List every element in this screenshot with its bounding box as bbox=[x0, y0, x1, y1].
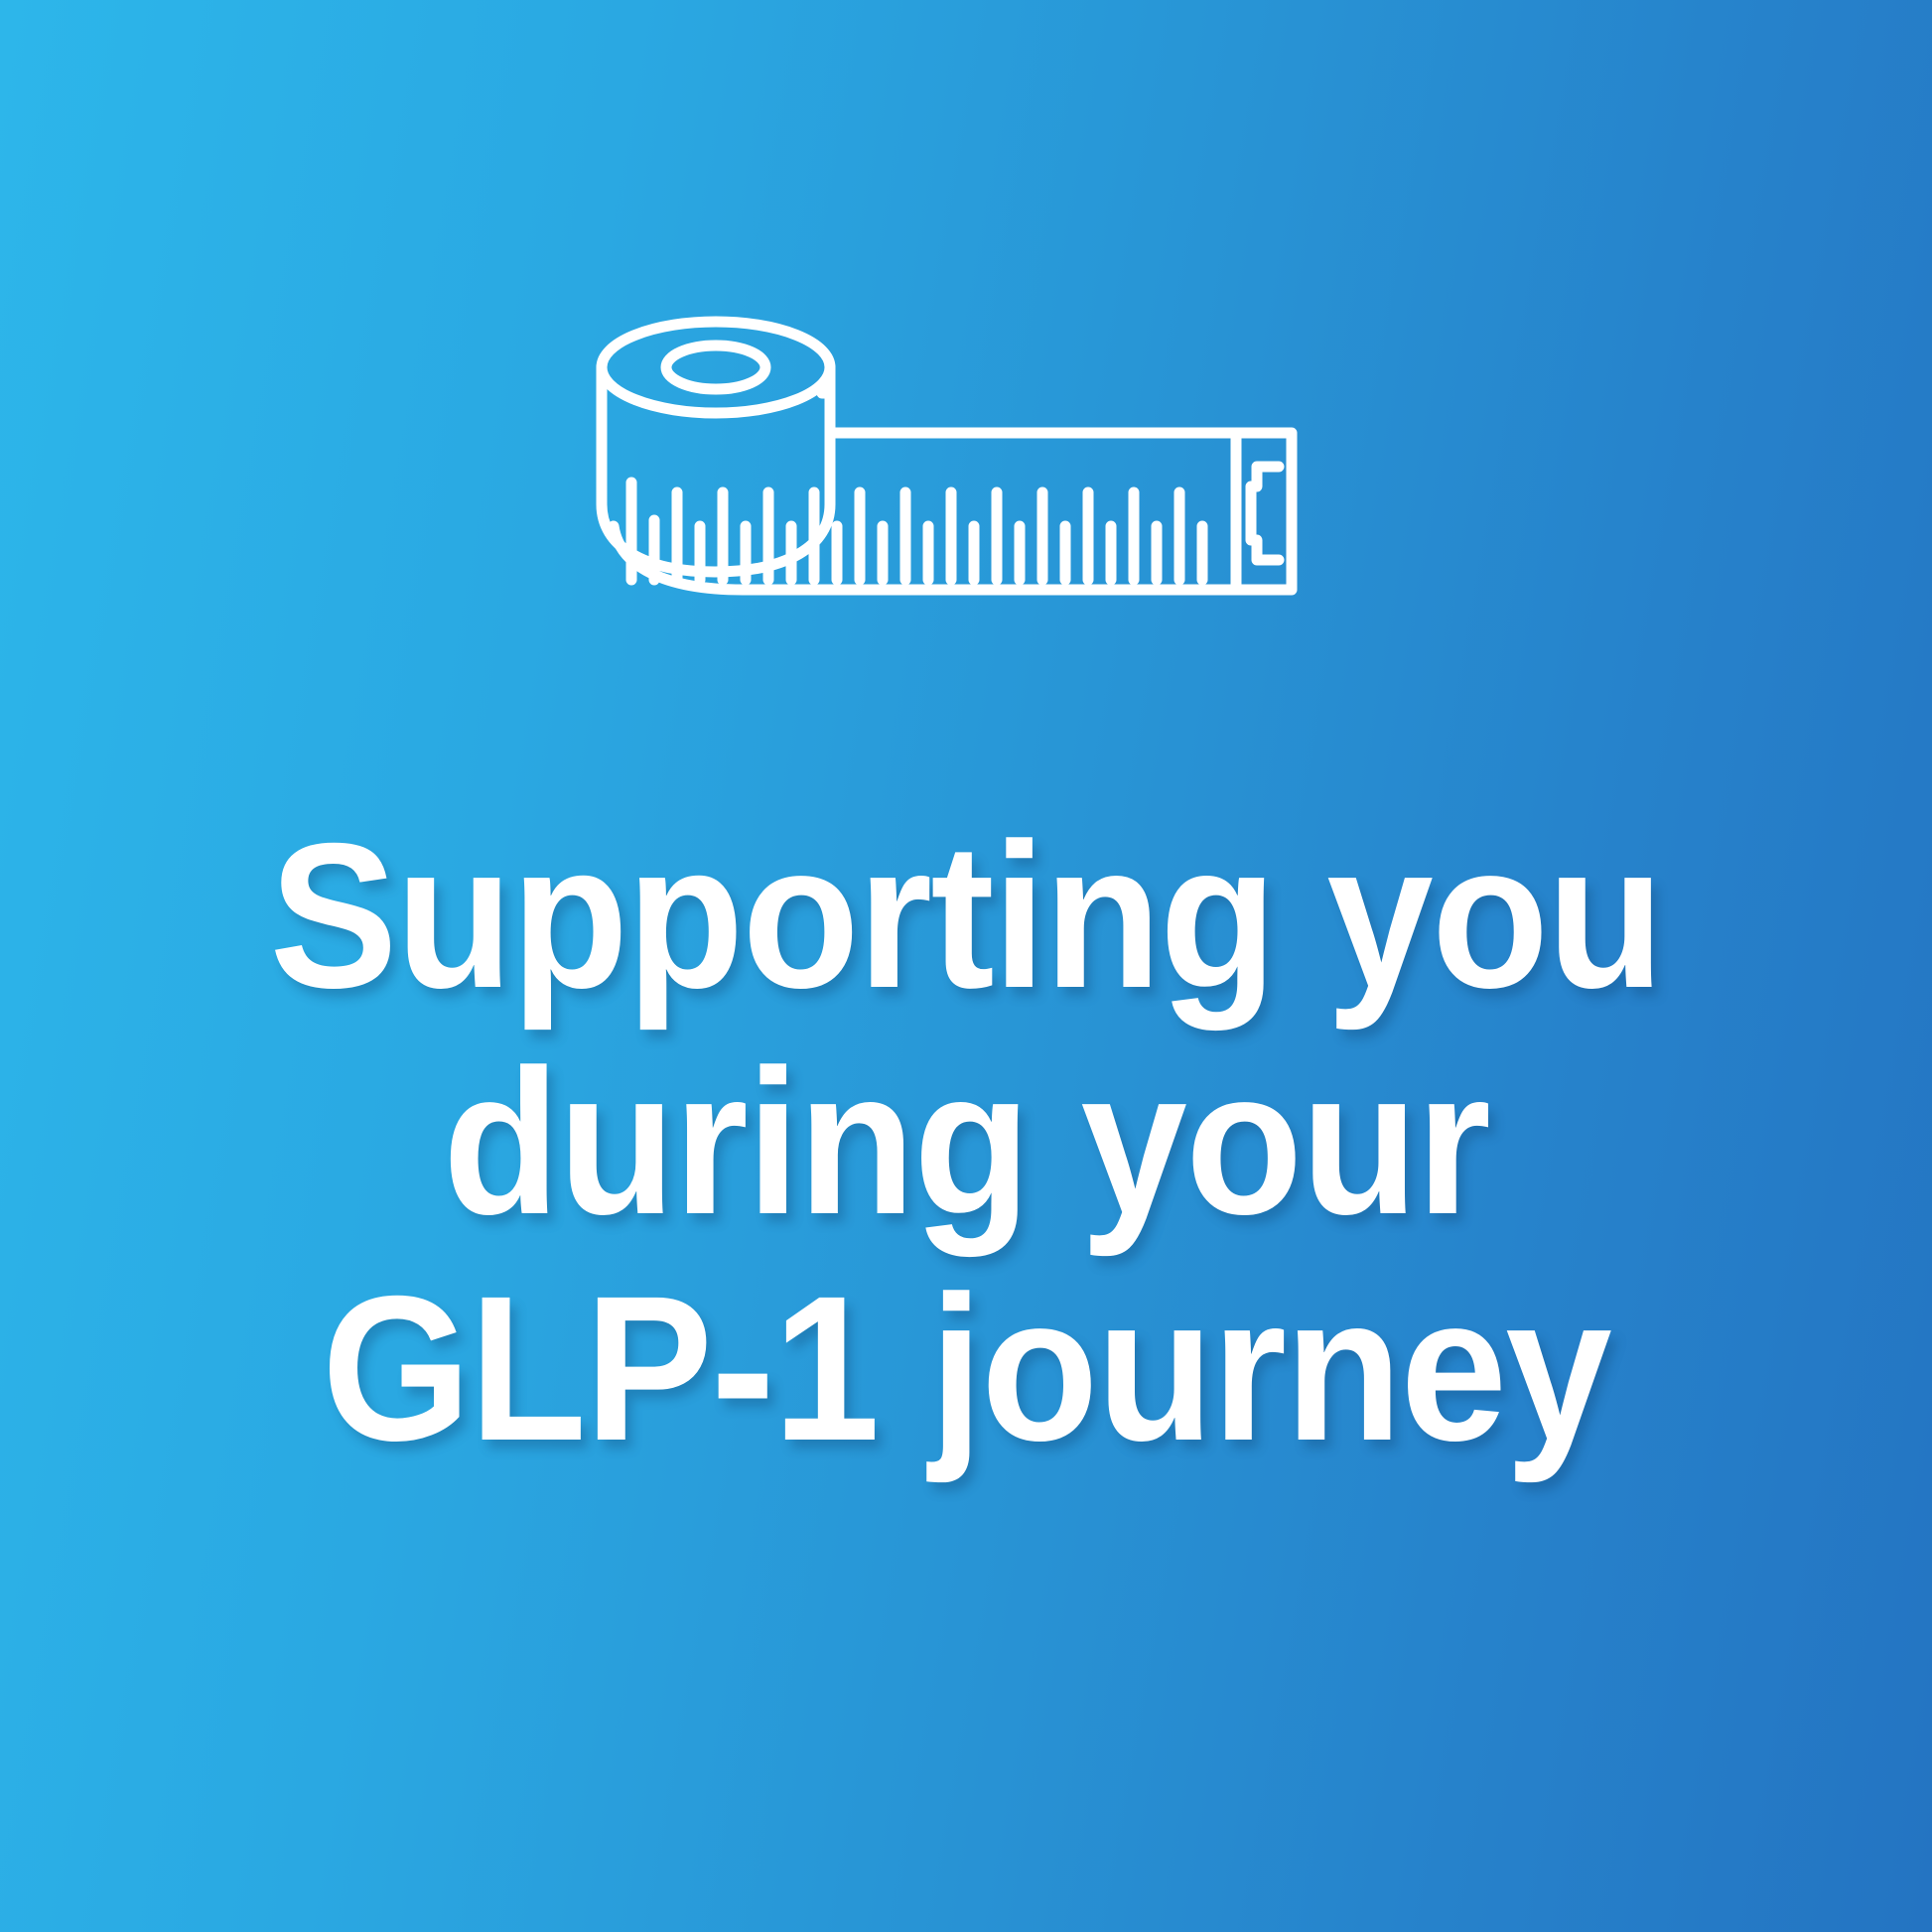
ruler-ticks bbox=[631, 483, 1202, 580]
tape-measure-icon bbox=[584, 316, 1348, 643]
headline-line-1: Supporting you bbox=[132, 804, 1800, 1031]
headline-line-3: GLP-1 journey bbox=[132, 1257, 1800, 1483]
poster-canvas: Supporting you during your GLP-1 journey bbox=[0, 0, 1932, 1932]
roll-outer-ellipse bbox=[602, 322, 830, 413]
roll-inner-ellipse bbox=[666, 345, 765, 389]
end-buckle bbox=[1251, 467, 1279, 560]
headline-line-2: during your bbox=[132, 1031, 1800, 1257]
headline-block: Supporting you during your GLP-1 journey bbox=[0, 804, 1932, 1482]
icon-container bbox=[0, 316, 1932, 643]
